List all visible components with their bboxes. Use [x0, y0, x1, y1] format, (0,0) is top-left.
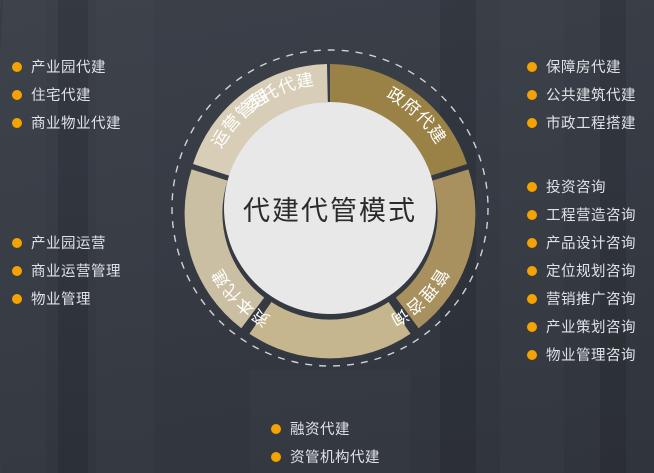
- list-item[interactable]: 商业物业代建: [12, 112, 121, 133]
- list-item[interactable]: 公共建筑代建: [527, 84, 636, 105]
- list-item[interactable]: 物业管理咨询: [527, 344, 636, 365]
- list-item-label: 工程营造咨询: [546, 204, 636, 225]
- list-item-label: 保障房代建: [546, 56, 621, 77]
- bullet-dot-icon: [12, 238, 22, 248]
- list-mid-left: 产业园运营 商业运营管理 物业管理: [12, 232, 121, 316]
- list-item[interactable]: 营销推广咨询: [527, 288, 636, 309]
- list-item-label: 融资代建: [290, 418, 350, 439]
- list-item[interactable]: 物业管理: [12, 288, 121, 309]
- list-item[interactable]: 资管机构代建: [271, 446, 380, 467]
- bullet-dot-icon: [527, 90, 537, 100]
- bullet-dot-icon: [527, 118, 537, 128]
- list-item-label: 产品设计咨询: [546, 232, 636, 253]
- bullet-dot-icon: [527, 322, 537, 332]
- list-item[interactable]: 产业园代建: [12, 56, 121, 77]
- bullet-dot-icon: [527, 350, 537, 360]
- list-item-label: 投资咨询: [546, 176, 606, 197]
- bullet-dot-icon: [527, 266, 537, 276]
- donut-center-disc: [224, 102, 436, 314]
- bullet-dot-icon: [12, 62, 22, 72]
- list-item[interactable]: 工程营造咨询: [527, 204, 636, 225]
- list-item-label: 市政工程搭建: [546, 112, 636, 133]
- list-item[interactable]: 融资代建: [271, 418, 380, 439]
- list-item[interactable]: 商业运营管理: [12, 260, 121, 281]
- list-bottom: 融资代建 资管机构代建: [271, 418, 380, 473]
- list-item[interactable]: 住宅代建: [12, 84, 121, 105]
- list-item-label: 产业园运营: [31, 232, 106, 253]
- bullet-dot-icon: [527, 294, 537, 304]
- list-item-label: 物业管理咨询: [546, 344, 636, 365]
- list-item-label: 住宅代建: [31, 84, 91, 105]
- list-item[interactable]: 投资咨询: [527, 176, 636, 197]
- infographic-canvas: 政府代建 管理咨询 资本代建 运营管理 委托代建 代建代管模式: [0, 0, 654, 473]
- bullet-dot-icon: [527, 238, 537, 248]
- list-item-label: 物业管理: [31, 288, 91, 309]
- donut-chart: 政府代建 管理咨询 资本代建 运营管理 委托代建: [168, 46, 492, 370]
- list-top-left: 产业园代建 住宅代建 商业物业代建: [12, 56, 121, 140]
- bullet-dot-icon: [271, 452, 281, 462]
- bullet-dot-icon: [527, 62, 537, 72]
- list-item[interactable]: 产业园运营: [12, 232, 121, 253]
- list-mid-right: 投资咨询 工程营造咨询 产品设计咨询 定位规划咨询 营销推广咨询 产业策划咨询 …: [527, 176, 636, 372]
- bullet-dot-icon: [12, 90, 22, 100]
- list-item[interactable]: 产品设计咨询: [527, 232, 636, 253]
- list-item-label: 定位规划咨询: [546, 260, 636, 281]
- list-item-label: 资管机构代建: [290, 446, 380, 467]
- bullet-dot-icon: [12, 266, 22, 276]
- list-item-label: 公共建筑代建: [546, 84, 636, 105]
- list-item[interactable]: 市政工程搭建: [527, 112, 636, 133]
- list-item[interactable]: 产业策划咨询: [527, 316, 636, 337]
- list-item[interactable]: 保障房代建: [527, 56, 636, 77]
- bullet-dot-icon: [12, 118, 22, 128]
- list-item-label: 商业物业代建: [31, 112, 121, 133]
- bullet-dot-icon: [271, 424, 281, 434]
- list-item-label: 营销推广咨询: [546, 288, 636, 309]
- bullet-dot-icon: [527, 182, 537, 192]
- list-top-right: 保障房代建 公共建筑代建 市政工程搭建: [527, 56, 636, 140]
- list-item-label: 产业策划咨询: [546, 316, 636, 337]
- bullet-dot-icon: [527, 210, 537, 220]
- list-item[interactable]: 定位规划咨询: [527, 260, 636, 281]
- list-item-label: 商业运营管理: [31, 260, 121, 281]
- list-item-label: 产业园代建: [31, 56, 106, 77]
- bullet-dot-icon: [12, 294, 22, 304]
